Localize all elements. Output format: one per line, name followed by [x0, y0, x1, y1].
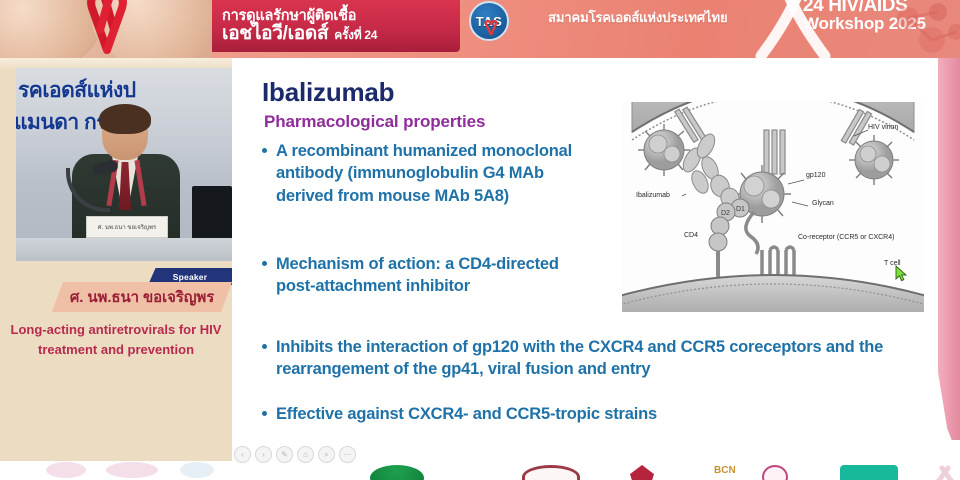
presentation-slide[interactable]: Ibalizumab Pharmacological properties A …	[232, 58, 960, 461]
conference-title-line2-row: เอชไอวี/เอดส์ ครั้งที่ 24	[222, 24, 452, 45]
red-aids-ribbon-icon	[84, 0, 130, 54]
diagram-label-hiv-virion: HIV virion	[868, 124, 898, 131]
pen-glyph: ✎	[281, 450, 288, 459]
speaker-hair	[99, 104, 151, 134]
more-icon[interactable]: ⋯	[339, 446, 356, 463]
conference-title-line1: การดูแลรักษาผู้ติดเชื้อ	[222, 9, 452, 24]
hands-ribbon-photo	[0, 0, 212, 58]
bullet-dot-icon	[262, 411, 267, 416]
sponsor-logo-faded-ribbon	[924, 465, 960, 480]
backdrop-text-line1: รคเอดส์แห่งป	[18, 74, 136, 107]
sponsor-logo-gold-text: BCN	[714, 465, 748, 480]
previous-icon[interactable]: ‹	[234, 446, 251, 463]
tas-association-logo: TAS	[469, 1, 509, 41]
sidebar-sponsor-strip	[0, 461, 232, 480]
zoom-icon[interactable]: ⌕	[318, 446, 335, 463]
slide-bullet-2-text: Mechanism of action: a CD4-directed post…	[276, 253, 562, 298]
sponsor-blob-1	[46, 462, 86, 478]
diagram-label-d1: D1	[736, 206, 745, 213]
desk-nameplate: ศ. นพ.ธนา ขอเจริญพร	[86, 216, 168, 238]
speaker-name-plate: ศ. นพ.ธนา ขอเจริญพร	[52, 282, 232, 312]
association-name-text: สมาคมโรคเอดส์แห่งประเทศไทย	[548, 7, 727, 28]
ibalizumab-mechanism-diagram: D1 D2	[622, 102, 924, 312]
previous-glyph: ‹	[241, 450, 244, 459]
zoom-glyph: ⌕	[324, 450, 328, 460]
sponsor-logo-green-oval	[370, 465, 424, 480]
player-bottom-bar: ‹ › ✎ ⌂ ⌕ ⋯ BCN	[232, 440, 960, 480]
conference-title-line2: เอชไอวี/เอดส์	[222, 24, 328, 45]
speaker-topic: Long-acting antiretrovirals for HIV trea…	[8, 320, 224, 360]
conference-header-banner: การดูแลรักษาผู้ติดเชื้อ เอชไอวี/เอดส์ คร…	[0, 0, 960, 58]
sponsor-logo-teal-rect	[840, 465, 898, 480]
diagram-label-d2: D2	[721, 210, 730, 217]
sponsor-logo-pink-circle	[762, 465, 788, 480]
slide-title: Ibalizumab	[262, 77, 394, 108]
home-icon[interactable]: ⌂	[297, 446, 314, 463]
conference-title-plate: การดูแลรักษาผู้ติดเชื้อ เอชไอวี/เอดส์ คร…	[212, 0, 460, 52]
laptop	[192, 186, 232, 240]
diagram-artwork: D1 D2	[622, 102, 924, 312]
speaker-info-block: Speaker ศ. นพ.ธนา ขอเจริญพร Long-acting …	[0, 268, 232, 418]
pen-icon[interactable]: ✎	[276, 446, 293, 463]
mouse-cursor	[895, 265, 908, 282]
speaker-badge-label: Speaker	[173, 272, 207, 282]
conference-edition: ครั้งที่ 24	[334, 29, 377, 42]
sponsor-blob-3	[180, 462, 214, 478]
slide-bullet-1-text: A recombinant humanized monoclonal antib…	[276, 140, 592, 207]
sponsor-logo-row: BCN	[232, 463, 960, 480]
speaker-tag-wrapper: Speaker ศ. นพ.ธนา ขอเจริญพร	[40, 268, 232, 320]
slide-bullet-1: A recombinant humanized monoclonal antib…	[262, 140, 592, 207]
bullet-dot-icon	[262, 261, 267, 266]
diagram-label-coreceptor: Co-receptor (CCR5 or CXCR4)	[798, 234, 894, 241]
speaker-video-thumbnail[interactable]: รคเอดส์แห่งป แมนดา กรุงเท ศ. นพ.ธนา ขอเจ…	[16, 68, 232, 261]
more-glyph: ⋯	[344, 450, 352, 459]
conference-table	[16, 238, 232, 261]
home-glyph: ⌂	[303, 450, 308, 459]
desk-nameplate-text: ศ. นพ.ธนา ขอเจริญพร	[98, 222, 156, 232]
bullet-dot-icon	[262, 148, 267, 153]
molecule-graphic	[886, 2, 960, 58]
screen-root: การดูแลรักษาผู้ติดเชื้อ เอชไอวี/เอดส์ คร…	[0, 0, 960, 480]
slide-subtitle: Pharmacological properties	[264, 112, 485, 132]
diagram-label-gp120: gp120	[806, 172, 825, 179]
slide-content: Ibalizumab Pharmacological properties A …	[232, 58, 938, 461]
play-glyph: ›	[262, 450, 265, 459]
diagram-label-ibalizumab: Ibalizumab	[636, 192, 670, 199]
speaker-name: ศ. นพ.ธนา ขอเจริญพร	[70, 285, 214, 309]
bullet-dot-icon	[262, 344, 267, 349]
player-controls: ‹ › ✎ ⌂ ⌕ ⋯	[234, 446, 356, 463]
tas-ribbon-icon	[484, 20, 498, 36]
slide-bullet-3-text: Inhibits the interaction of gp120 with t…	[276, 336, 922, 381]
slide-bullet-4: Effective against CXCR4- and CCR5-tropic…	[262, 403, 922, 425]
slide-bullet-2: Mechanism of action: a CD4-directed post…	[262, 253, 562, 298]
sponsor-logo-red-shield	[630, 465, 654, 480]
speaker-sidebar: รคเอดส์แห่งป แมนดา กรุงเท ศ. นพ.ธนา ขอเจ…	[0, 58, 232, 461]
diagram-label-cd4: CD4	[684, 232, 698, 239]
workshop-logo-block: 24 HIV/AIDS Workshop 2025	[745, 0, 960, 58]
play-icon[interactable]: ›	[255, 446, 272, 463]
diagram-label-glycan: Glycan	[812, 200, 834, 207]
sponsor-logo-maroon-arch	[522, 465, 580, 480]
slide-pink-accent-band	[938, 58, 960, 461]
slide-bullet-4-text: Effective against CXCR4- and CCR5-tropic…	[276, 403, 657, 425]
sponsor-blob-2	[106, 462, 158, 478]
slide-bullet-3: Inhibits the interaction of gp120 with t…	[262, 336, 922, 381]
